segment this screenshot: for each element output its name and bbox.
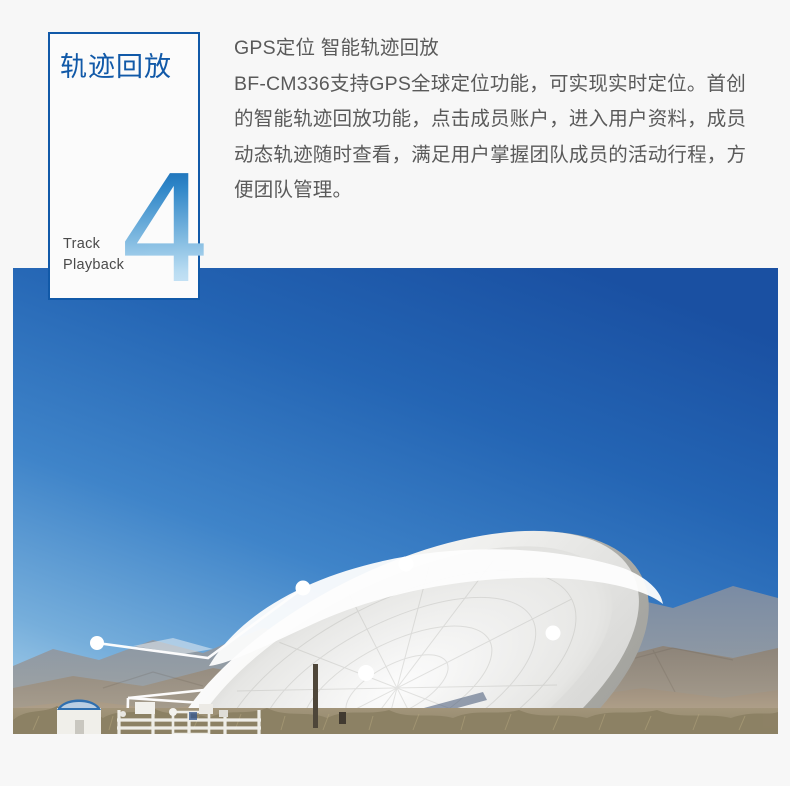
badge-label-en: Track Playback bbox=[63, 234, 124, 276]
observatory-dome bbox=[57, 700, 101, 735]
copy-body: BF-CM336支持GPS全球定位功能，可实现实时定位。首创的智能轨迹回放功能，… bbox=[234, 67, 762, 209]
badge-label-line2: Playback bbox=[63, 257, 124, 273]
network-node bbox=[546, 626, 561, 641]
badge-number: 4 bbox=[118, 156, 212, 304]
feature-copy: GPS定位 智能轨迹回放 BF-CM336支持GPS全球定位功能，可实现实时定位… bbox=[234, 31, 762, 209]
network-node bbox=[358, 665, 374, 681]
network-node bbox=[399, 557, 414, 572]
network-node bbox=[296, 581, 311, 596]
badge-label-line1: Track bbox=[63, 236, 100, 252]
page-root: 4 轨迹回放 Track Playback GPS定位 智能轨迹回放 BF-CM… bbox=[0, 0, 790, 786]
copy-heading: GPS定位 智能轨迹回放 bbox=[234, 31, 762, 67]
hero-photo bbox=[13, 268, 778, 734]
bottom-spacer bbox=[0, 734, 790, 786]
feature-badge-card: 4 轨迹回放 Track Playback bbox=[48, 32, 200, 300]
badge-title: 轨迹回放 bbox=[60, 52, 172, 82]
hero-photo-illustration bbox=[13, 268, 778, 734]
network-node bbox=[90, 636, 104, 650]
